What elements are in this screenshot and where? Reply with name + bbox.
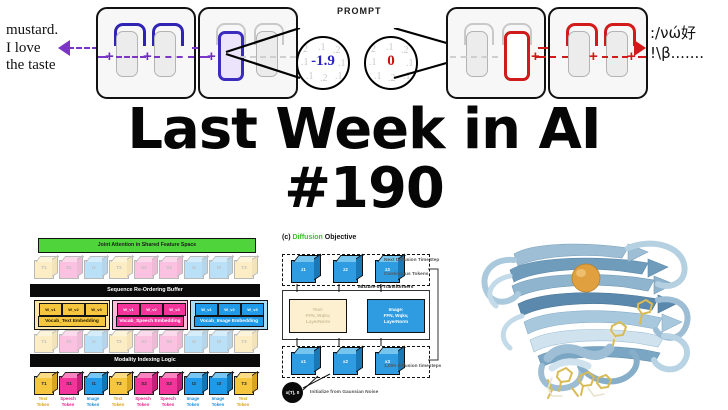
cube-label: I2: [185, 339, 203, 344]
residual-plus-5: +: [589, 49, 598, 64]
faint-token-cube: I1: [84, 260, 104, 279]
weight-card: W_v2: [140, 303, 163, 316]
cube-label: z2: [334, 267, 357, 272]
faint-token-cube: S1: [59, 334, 79, 353]
caption-prefix: (c): [282, 234, 293, 241]
faint-token-cube: I3: [209, 334, 229, 353]
cube-label: S2: [135, 339, 153, 344]
ghost-number: .1: [374, 71, 382, 82]
cube-label: I1: [85, 265, 103, 270]
flow-seg-d: [200, 56, 210, 58]
thumbnail-canvas: mustard. I love the taste :/νώ好 !\β.....…: [0, 0, 728, 410]
weight-card: W_v1: [195, 303, 218, 316]
vocab-embedding-zone: W_v1W_v2W_v3Vocab_Text EmbeddingW_v1W_v2…: [34, 300, 266, 328]
cube-side-face: [314, 254, 321, 281]
cube-label: I1: [85, 339, 103, 344]
token-cube: T1: [34, 376, 54, 395]
cube-label: T1: [35, 381, 53, 386]
vocab-embedding-label: Vocab_Speech Embedding: [116, 316, 184, 327]
token-cube: S3: [159, 376, 179, 395]
faint-token-cube: S2: [134, 334, 154, 353]
cube-label: I3: [210, 381, 228, 386]
image-expert-box: Image: FFN, Wqkv, LayerNorm: [367, 299, 425, 333]
faint-token-cube: S2: [134, 260, 154, 279]
layer-bar-8: [606, 31, 628, 77]
flow-seg-c: [154, 56, 194, 58]
layer-bar-1: [116, 31, 138, 77]
vocab-embedding-label: Vocab_Image Embedding: [194, 316, 264, 327]
top-residual-figure: mustard. I love the taste :/νώ好 !\β.....…: [0, 0, 728, 106]
faint-token-cube: I3: [209, 260, 229, 279]
token-cube: I1: [84, 376, 104, 395]
text-expert-box: Text: FFN, Wqkv, LayerNorm: [289, 299, 347, 333]
right-arrow-icon: [634, 40, 646, 56]
ghost-number: .2: [320, 73, 328, 84]
faint-cube-row-mid: T1S1I1T2S2S3I2I3T3: [34, 328, 266, 354]
network-stage-1: + +: [96, 7, 196, 99]
token-type-label: Image Token: [181, 396, 205, 407]
cube-label: S3: [160, 265, 178, 270]
figure-diffusion-objective: (c) Diffusion Objective z1 z2 z3 Next Di…: [278, 232, 446, 408]
noisy-cube: x2: [333, 352, 358, 375]
cube-label: S1: [60, 381, 78, 386]
caption-highlight: Diffusion: [293, 234, 323, 241]
magnifier-value-blue: -1.9: [298, 53, 348, 70]
weight-card: W_v2: [218, 303, 241, 316]
token-type-label: Text Token: [31, 396, 55, 407]
label-initialize-gaussian: Initialize from Gaussian Noise: [310, 390, 378, 395]
weight-card: W_v1: [117, 303, 140, 316]
page-title-line2: #190: [0, 162, 728, 217]
metal-ion-sphere: [572, 264, 600, 292]
faint-token-cube: T2: [109, 334, 129, 353]
cube-label: S1: [60, 339, 78, 344]
protein-ribbon-svg: [452, 230, 728, 410]
cube-label: T2: [110, 381, 128, 386]
sequence-reorder-bar: Sequence Re-Ordering Buffer: [30, 284, 260, 297]
label-diffusion-timesteps: 1,000 diffusion timesteps: [384, 364, 441, 369]
flow-seg-f: [450, 56, 498, 58]
flow-line-left-out: [68, 47, 98, 49]
weight-card: W_v2: [62, 303, 85, 316]
vocab-embedding-label: Vocab_Text Embedding: [38, 316, 106, 327]
joint-attention-bar: Joint Attention in Shared Feature Space: [38, 238, 256, 253]
cube-label: I3: [210, 265, 228, 270]
token-cube: I3: [209, 376, 229, 395]
layer-bar-5: [466, 31, 488, 77]
ghost-number: .1: [335, 71, 343, 82]
faint-token-cube: T2: [109, 260, 129, 279]
network-stage-3: +: [446, 7, 546, 99]
cube-side-face: [356, 254, 363, 281]
cube-label: S3: [160, 381, 178, 386]
token-cube: T2: [109, 376, 129, 395]
vocab-embedding-group: W_v1W_v2W_v3Vocab_Speech Embedding: [112, 300, 188, 330]
ghost-number: .1: [318, 42, 326, 53]
token-cube: S1: [59, 376, 79, 395]
token-type-label: Image Token: [81, 396, 105, 407]
cube-label: S3: [160, 339, 178, 344]
gaussian-noise-node: x(T), 0: [282, 382, 303, 403]
faint-token-cube: S3: [159, 334, 179, 353]
cube-label: T3: [235, 381, 253, 386]
cube-label: S2: [135, 381, 153, 386]
cube-label: T2: [110, 265, 128, 270]
highlighted-layer-bar-red: [504, 31, 530, 81]
noisy-cube: x1: [291, 352, 316, 375]
cube-label: I2: [185, 381, 203, 386]
prompt-output-text: :/νώ好 !\β.......: [650, 24, 704, 63]
flow-seg-h: [550, 56, 568, 58]
token-cube: S2: [134, 376, 154, 395]
cube-label: I2: [185, 265, 203, 270]
token-type-label: Text Token: [106, 396, 130, 407]
weight-card: W_v1: [39, 303, 62, 316]
cube-label: z1: [292, 267, 315, 272]
token-cube-row: T1S1I1T2S2S3I2I3T3: [34, 370, 266, 396]
faint-token-cube: T3: [234, 334, 254, 353]
faint-cube-row-top: T1S1I1T2S2S3I2I3T3: [34, 254, 266, 280]
cube-label: S1: [60, 265, 78, 270]
token-type-label: Speech Token: [131, 396, 155, 407]
token-type-label: Text Token: [231, 396, 255, 407]
cube-label: I3: [210, 339, 228, 344]
network-stage-4: + +: [548, 7, 648, 99]
cube-side-face: [314, 346, 321, 373]
cube-label: T2: [110, 339, 128, 344]
modality-indexing-bar: Modality Indexing Logic: [30, 354, 260, 367]
cube-label: x2: [334, 359, 357, 364]
layer-bar-2: [154, 31, 176, 77]
cube-label: S2: [135, 265, 153, 270]
token-type-label: Speech Token: [56, 396, 80, 407]
weight-card: W_v3: [85, 303, 108, 316]
faint-token-cube: I2: [184, 260, 204, 279]
cube-label: x1: [292, 359, 315, 364]
cube-label: T1: [35, 339, 53, 344]
prompt-input-text: mustard. I love the taste: [6, 22, 58, 75]
vocab-embedding-group: W_v1W_v2W_v3Vocab_Text Embedding: [34, 300, 110, 330]
token-type-label: Speech Token: [156, 396, 180, 407]
continuous-token-row-bottom: x1 x2 x3: [282, 346, 430, 378]
cube-label: T3: [235, 339, 253, 344]
token-label-row: Text TokenSpeech TokenImage TokenText To…: [34, 396, 266, 408]
latent-cube: z1: [291, 260, 316, 283]
faint-token-cube: S3: [159, 260, 179, 279]
magnifier-circle-1: 2 .1 .2 .1 .1 .1 .2 .1 -1.9: [296, 36, 350, 90]
flow-seg-b: [116, 56, 146, 58]
figure-modality-architecture: Joint Attention in Shared Feature Space …: [24, 232, 274, 408]
faint-token-cube: T1: [34, 334, 54, 353]
cube-label: I1: [85, 381, 103, 386]
faint-token-cube: I1: [84, 334, 104, 353]
label-next-timestep: Next Diffusion TimeStep: [384, 258, 439, 263]
faint-token-cube: I2: [184, 334, 204, 353]
layer-bar-7: [568, 31, 590, 77]
vocab-embedding-group: W_v1W_v2W_v3Vocab_Image Embedding: [190, 300, 268, 330]
faint-token-cube: S1: [59, 260, 79, 279]
label-continuous-tokens: Continuous Tokens: [384, 272, 428, 277]
latent-cube: z2: [333, 260, 358, 283]
weight-card: W_v3: [241, 303, 264, 316]
flow-seg-j: [638, 56, 646, 58]
flow-seg-a: [98, 56, 108, 58]
mixture-of-transformers-box: Text: FFN, Wqkv, LayerNorm Image: FFN, W…: [282, 290, 430, 340]
cube-label: T1: [35, 265, 53, 270]
page-title-line1: Last Week in AI: [0, 103, 728, 158]
figure-b-caption: (c) Diffusion Objective: [282, 234, 356, 241]
ghost-number: .1: [306, 71, 314, 82]
figure-protein-structure: [452, 230, 728, 410]
token-cube: I2: [184, 376, 204, 395]
token-cube: T3: [234, 376, 254, 395]
weight-card: W_v3: [163, 303, 186, 316]
flow-seg-g: [536, 56, 546, 58]
faint-token-cube: T3: [234, 260, 254, 279]
cube-label: T3: [235, 265, 253, 270]
token-type-label: Image Token: [206, 396, 230, 407]
prompt-label: PROMPT: [337, 6, 382, 16]
cube-side-face: [356, 346, 363, 373]
flow-seg-i: [602, 56, 628, 58]
caption-suffix: Objective: [323, 234, 356, 241]
faint-token-cube: T1: [34, 260, 54, 279]
